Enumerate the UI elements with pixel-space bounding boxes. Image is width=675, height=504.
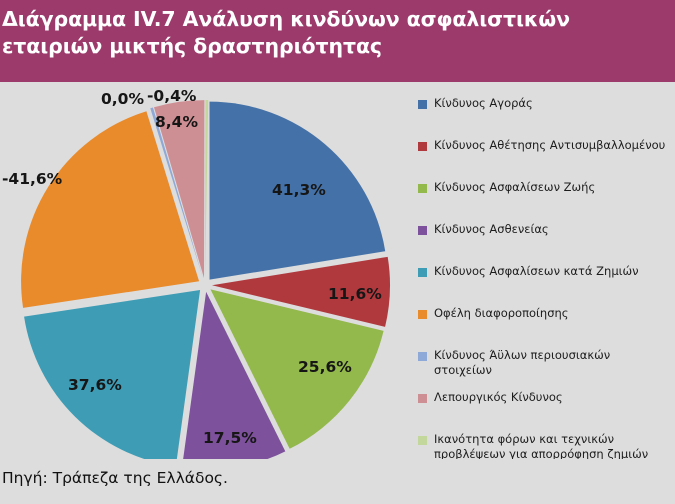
- chart-legend: Κίνδυνος ΑγοράςΚίνδυνος Αθέτησης Αντισυμ…: [418, 96, 670, 480]
- pie-slice[interactable]: [24, 290, 200, 459]
- legend-item-label: Ικανότητα φόρων και τεχνικών προβλέψεων …: [434, 432, 648, 461]
- pie-slice-label: 41,3%: [272, 181, 326, 199]
- legend-item-label: Κίνδυνος Ασφαλίσεων κατά Ζημιών: [434, 264, 639, 279]
- pie-slice-label: 25,6%: [298, 358, 352, 376]
- legend-item[interactable]: Κίνδυνος Αθέτησης Αντισυμβαλλομένου: [418, 138, 670, 180]
- legend-swatch-icon: [418, 100, 427, 109]
- legend-swatch-icon: [418, 268, 427, 277]
- source-note: Πηγή: Τράπεζα της Ελλάδος.: [2, 469, 228, 487]
- legend-item-label: Λεπουργικός Κίνδυνος: [434, 390, 563, 405]
- legend-swatch-icon: [418, 184, 427, 193]
- pie-slice-label: -41,6%: [2, 170, 62, 188]
- pie-slice-label: 17,5%: [203, 429, 257, 447]
- legend-swatch-icon: [418, 226, 427, 235]
- legend-swatch-icon: [418, 310, 427, 319]
- chart-area: 41,3%11,6%25,6%17,5%37,6%-41,6%0,0%8,4%-…: [0, 82, 675, 459]
- legend-item[interactable]: Κίνδυνος Ασφαλίσεων κατά Ζημιών: [418, 264, 670, 306]
- legend-item-label: Κίνδυνος Άϋλων περιουσιακών στοιχείων: [434, 348, 670, 377]
- chart-page: Διάγραμμα IV.7 Ανάλυση κινδύνων ασφαλιστ…: [0, 0, 675, 504]
- legend-item[interactable]: Λεπουργικός Κίνδυνος: [418, 390, 670, 432]
- legend-item-label: Κίνδυνος Ασφαλίσεων Ζωής: [434, 180, 595, 195]
- legend-item-label: Κίνδυνος Αθέτησης Αντισυμβαλλομένου: [434, 138, 665, 153]
- pie-slice-label: -0,4%: [147, 87, 196, 105]
- pie-slice-label: 11,6%: [328, 285, 382, 303]
- legend-item[interactable]: Κίνδυνος Άϋλων περιουσιακών στοιχείων: [418, 348, 670, 390]
- pie-slice-label: 0,0%: [101, 90, 144, 108]
- pie-slice[interactable]: [205, 100, 208, 278]
- legend-swatch-icon: [418, 142, 427, 151]
- pie-slice-label: 8,4%: [155, 113, 198, 131]
- legend-swatch-icon: [418, 436, 427, 445]
- legend-item[interactable]: Κίνδυνος Αγοράς: [418, 96, 670, 138]
- legend-item-label: Κίνδυνος Αγοράς: [434, 96, 533, 111]
- legend-item[interactable]: Κίνδυνος Ασφαλίσεων Ζωής: [418, 180, 670, 222]
- pie-chart: 41,3%11,6%25,6%17,5%37,6%-41,6%0,0%8,4%-…: [0, 82, 405, 459]
- pie-slice-label: 37,6%: [68, 376, 122, 394]
- legend-item-label: Κίνδυνος Ασθενείας: [434, 222, 549, 237]
- legend-item-label: Οφέλη διαφοροποίησης: [434, 306, 569, 321]
- pie-chart-svg: [0, 82, 405, 459]
- legend-swatch-icon: [418, 394, 427, 403]
- legend-item[interactable]: Οφέλη διαφοροποίησης: [418, 306, 670, 348]
- chart-footer: Πηγή: Τράπεζα της Ελλάδος.: [0, 459, 675, 504]
- chart-header-banner: Διάγραμμα IV.7 Ανάλυση κινδύνων ασφαλιστ…: [0, 0, 675, 82]
- page-title: Διάγραμμα IV.7 Ανάλυση κινδύνων ασφαλιστ…: [2, 6, 667, 60]
- legend-item[interactable]: Κίνδυνος Ασθενείας: [418, 222, 670, 264]
- legend-swatch-icon: [418, 352, 427, 361]
